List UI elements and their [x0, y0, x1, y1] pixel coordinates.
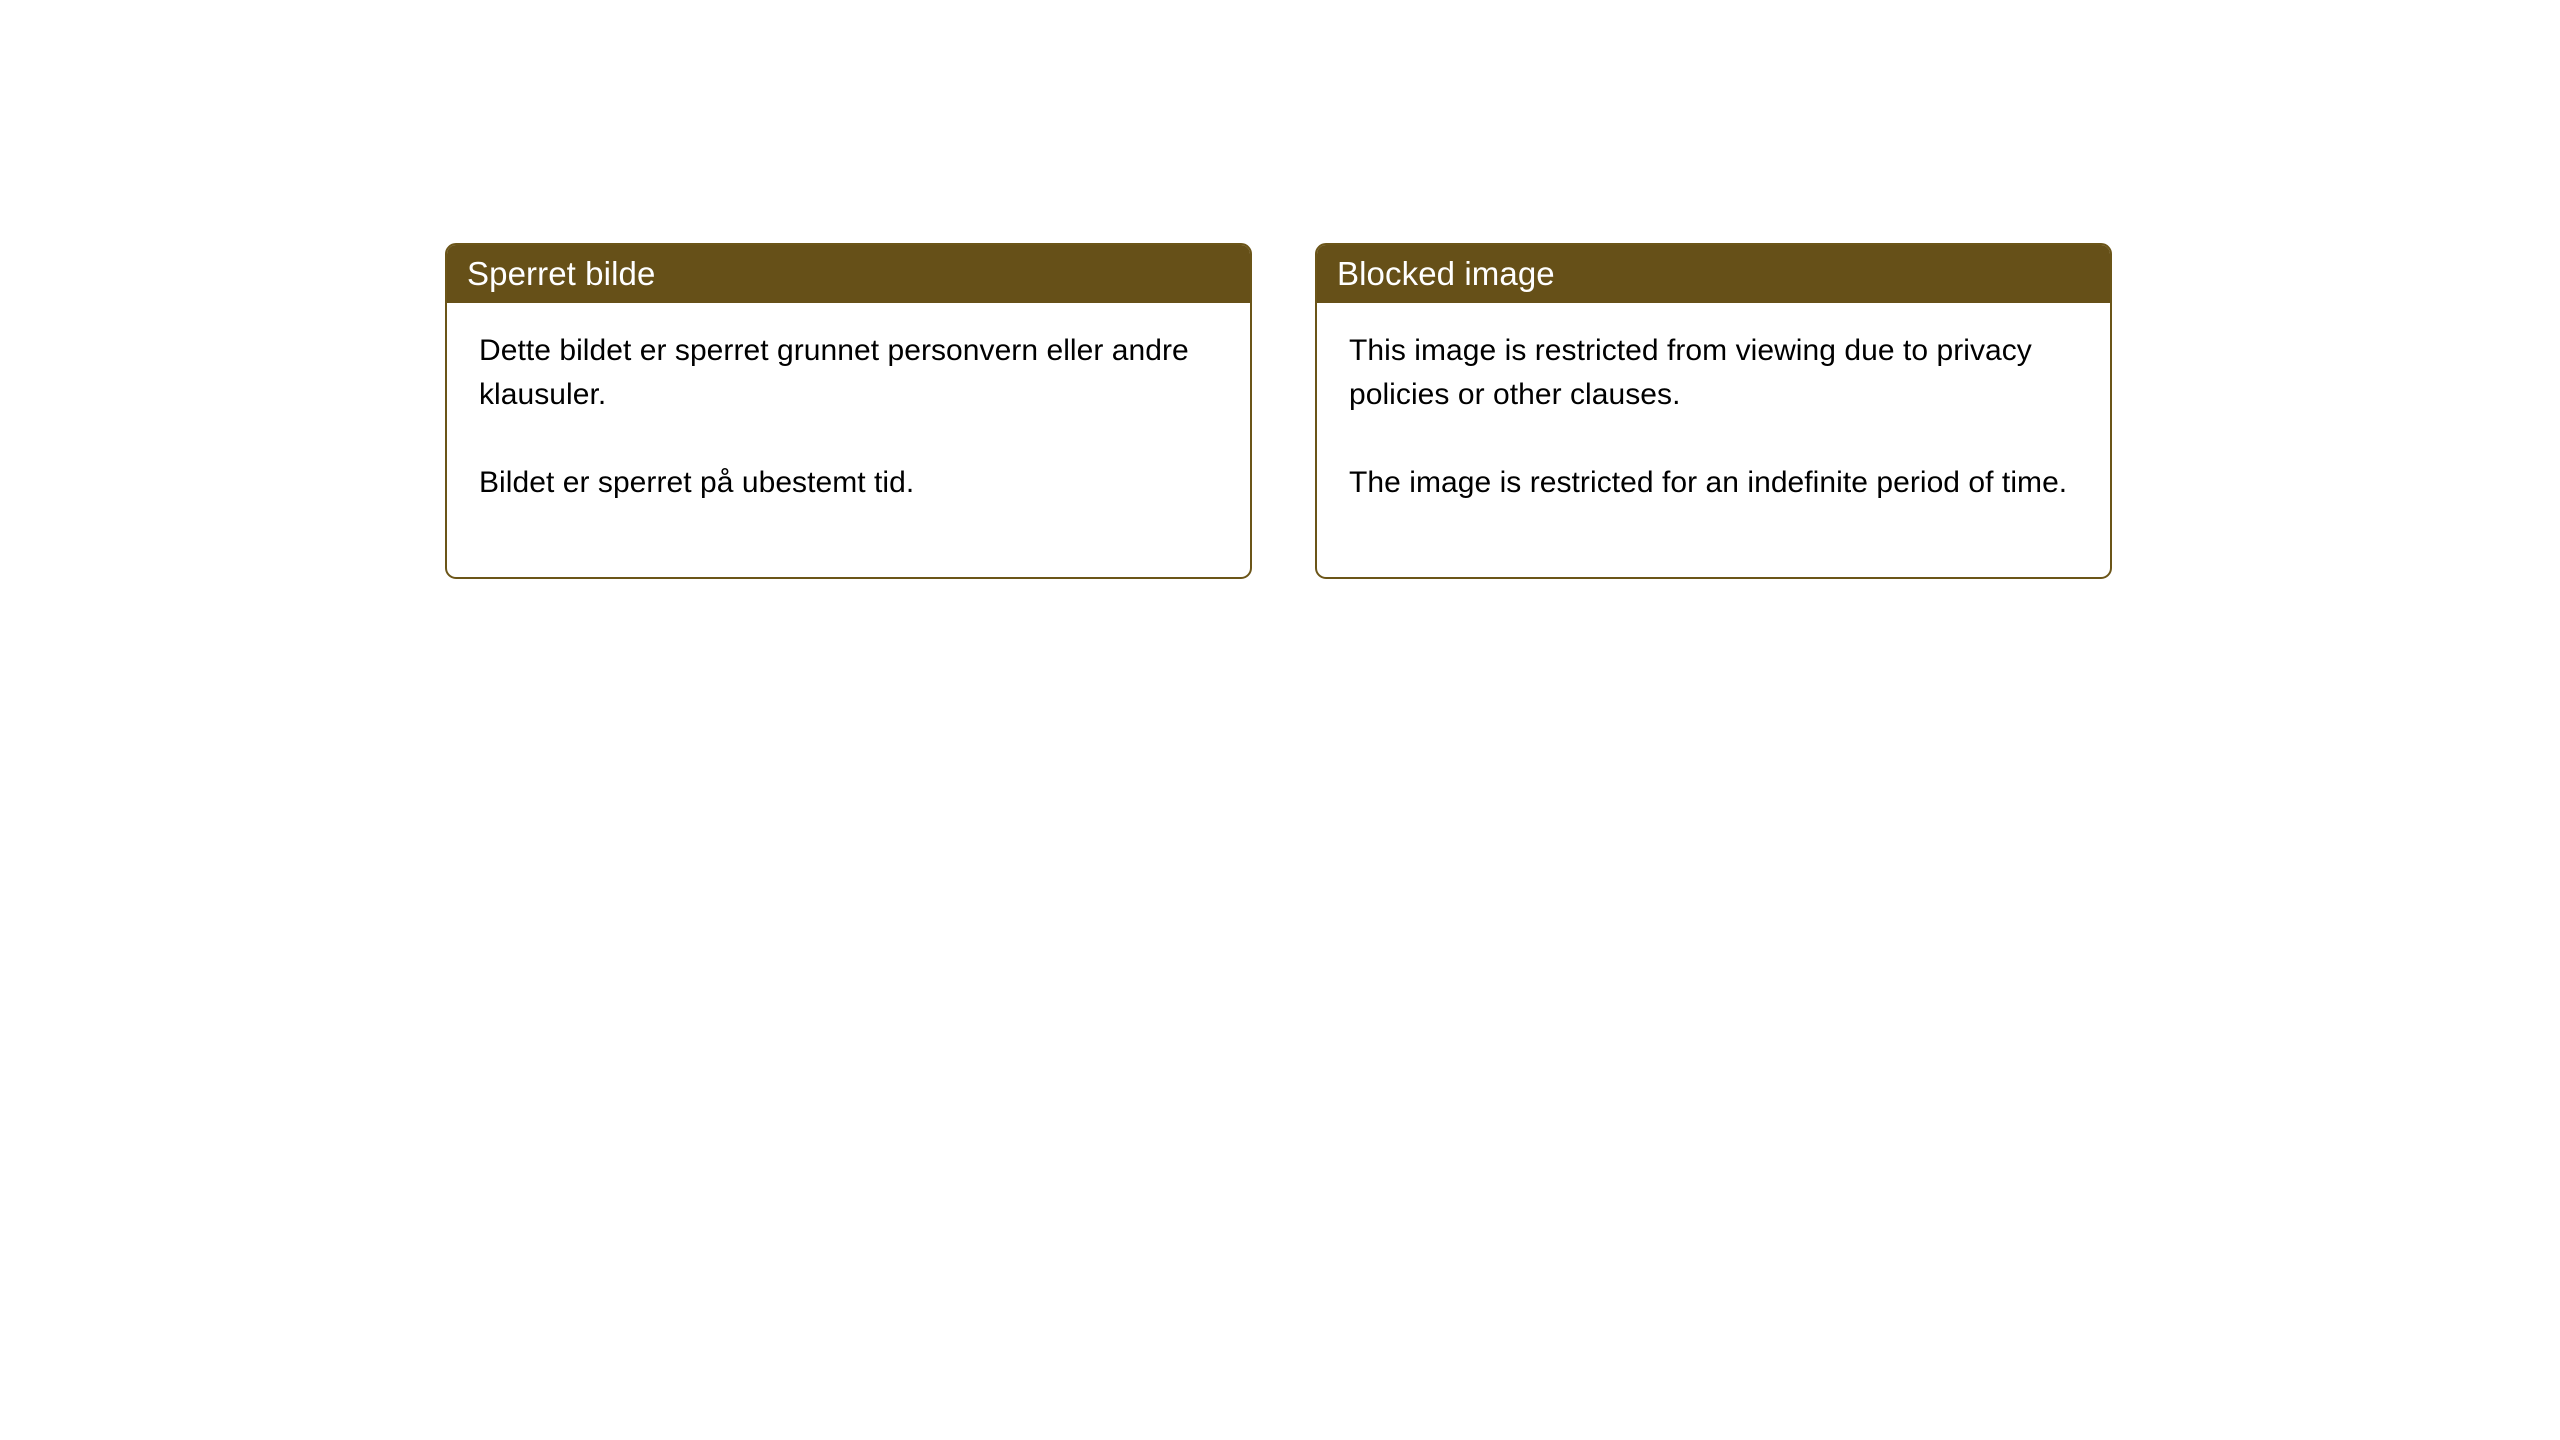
blocked-image-panel-english: Blocked image This image is restricted f…: [1315, 243, 2112, 579]
blocked-image-notice-panels: Sperret bilde Dette bildet er sperret gr…: [445, 243, 2112, 579]
panel-body-english: This image is restricted from viewing du…: [1317, 303, 2110, 577]
panel-paragraph-reason-english: This image is restricted from viewing du…: [1349, 329, 2086, 417]
panel-header-english: Blocked image: [1315, 243, 2112, 303]
panel-title-norwegian: Sperret bilde: [467, 257, 655, 290]
panel-paragraph-duration-norwegian: Bildet er sperret på ubestemt tid.: [479, 461, 1226, 505]
panel-paragraph-reason-norwegian: Dette bildet er sperret grunnet personve…: [479, 329, 1226, 417]
blocked-image-panel-norwegian: Sperret bilde Dette bildet er sperret gr…: [445, 243, 1252, 579]
panel-header-norwegian: Sperret bilde: [445, 243, 1252, 303]
panel-paragraph-duration-english: The image is restricted for an indefinit…: [1349, 461, 2086, 505]
panel-title-english: Blocked image: [1337, 257, 1555, 290]
panel-body-norwegian: Dette bildet er sperret grunnet personve…: [447, 303, 1250, 577]
